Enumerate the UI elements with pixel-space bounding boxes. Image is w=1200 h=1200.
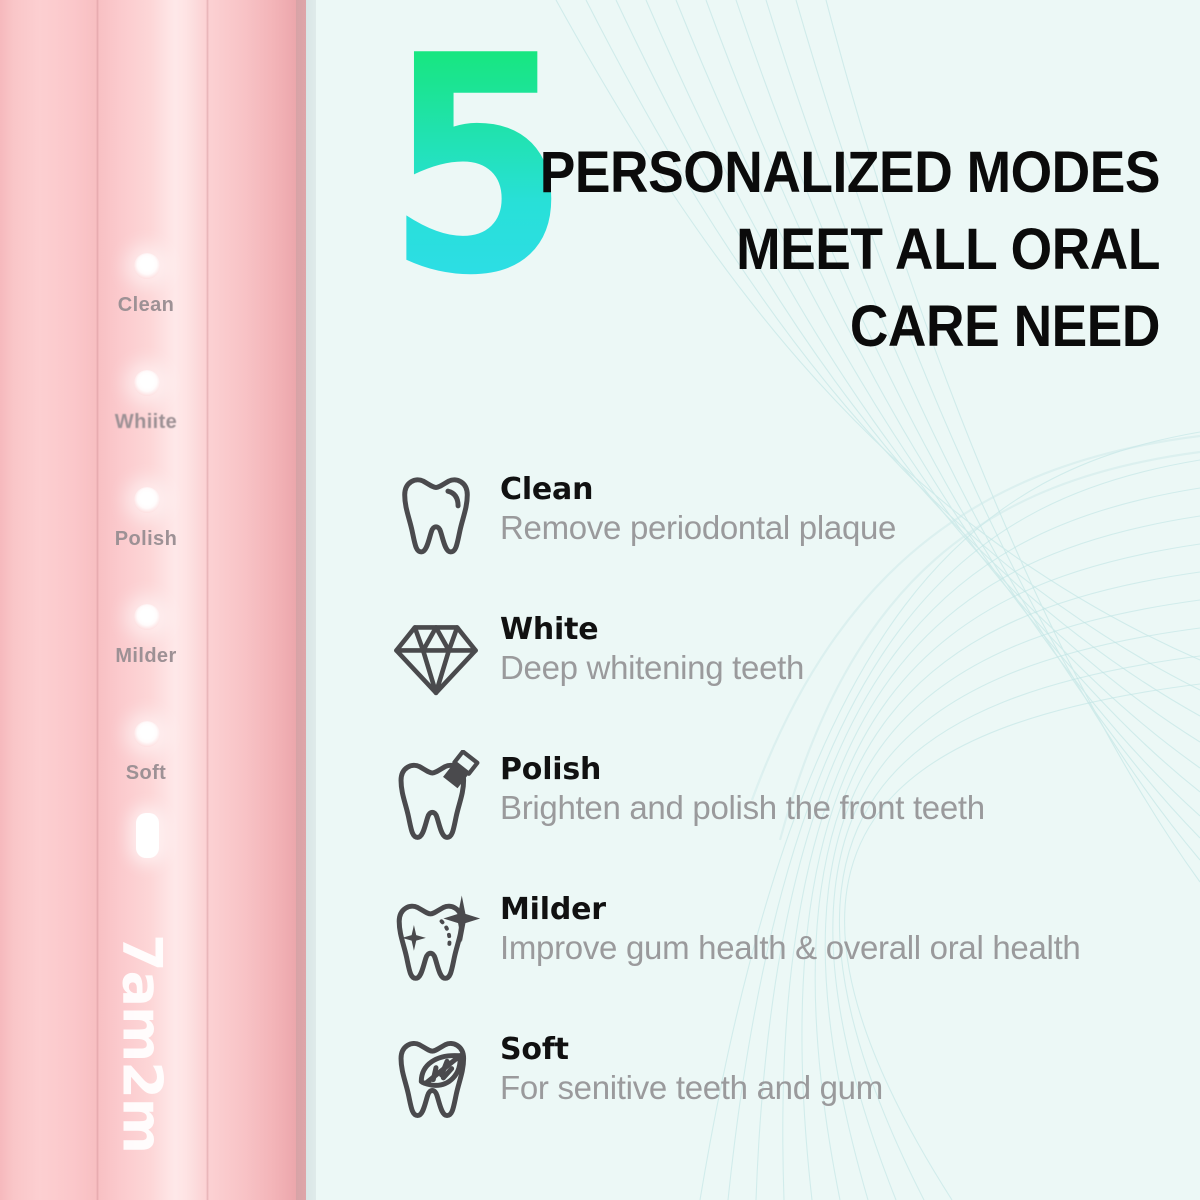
feature-desc-white: Deep whitening teeth: [500, 648, 804, 688]
feature-item-soft: Soft For senitive teeth and gum: [316, 1030, 1200, 1170]
feature-item-clean: Clean Remove periodontal plaque: [316, 470, 1200, 610]
page-title: PERSONALIZED MODES MEET ALL ORAL CARE NE…: [420, 134, 1160, 365]
feature-item-polish: Polish Brighten and polish the front tee…: [316, 750, 1200, 890]
panel-background-fade: [306, 0, 316, 1200]
feature-desc-clean: Remove periodontal plaque: [500, 508, 896, 548]
mode-led-white: [134, 370, 160, 396]
mode-label-clean: Clean: [56, 294, 236, 317]
feature-list: Clean Remove periodontal plaque Whi: [316, 470, 1200, 1170]
mode-label-white: Whiite: [56, 411, 236, 434]
headline-line-2: MEET ALL ORAL: [420, 211, 1160, 288]
feature-text-milder: Milder Improve gum health & overall oral…: [500, 892, 1081, 968]
mode-led-milder: [134, 604, 160, 630]
mode-label-milder: Milder: [56, 645, 236, 668]
headline-line-3: CARE NEED: [420, 288, 1160, 365]
feature-title-polish: Polish: [500, 752, 985, 788]
power-button-indicator: [136, 813, 159, 858]
tooth-polish-icon: [390, 750, 482, 842]
headline-line-1: PERSONALIZED MODES: [420, 134, 1160, 211]
mode-led-clean: [134, 253, 160, 279]
feature-title-clean: Clean: [500, 472, 896, 508]
handle-groove-left: [96, 0, 99, 1200]
mode-label-polish: Polish: [56, 528, 236, 551]
brand-logo: 7am2m: [111, 934, 174, 1154]
tooth-sparkle-icon: [390, 890, 482, 982]
tooth-leaf-icon: [390, 1030, 482, 1122]
diamond-icon: [390, 610, 482, 702]
feature-text-soft: Soft For senitive teeth and gum: [500, 1032, 883, 1108]
feature-text-white: White Deep whitening teeth: [500, 612, 804, 688]
feature-text-clean: Clean Remove periodontal plaque: [500, 472, 896, 548]
feature-desc-milder: Improve gum health & overall oral health: [500, 928, 1081, 968]
feature-text-polish: Polish Brighten and polish the front tee…: [500, 752, 985, 828]
mode-led-polish: [134, 487, 160, 513]
tooth-clean-icon: [390, 470, 482, 562]
feature-item-milder: Milder Improve gum health & overall oral…: [316, 890, 1200, 1030]
product-infographic: Clean Whiite Polish Milder Soft 7am2m 5 …: [0, 0, 1200, 1200]
content-panel: 5 PERSONALIZED MODES MEET ALL ORAL CARE …: [316, 0, 1200, 1200]
feature-desc-polish: Brighten and polish the front teeth: [500, 788, 985, 828]
mode-led-soft: [134, 721, 160, 747]
feature-item-white: White Deep whitening teeth: [316, 610, 1200, 750]
feature-title-soft: Soft: [500, 1032, 883, 1068]
feature-title-white: White: [500, 612, 804, 648]
feature-desc-soft: For senitive teeth and gum: [500, 1068, 883, 1108]
handle-groove-right: [206, 0, 209, 1200]
product-image-panel: Clean Whiite Polish Milder Soft 7am2m: [0, 0, 316, 1200]
mode-label-soft: Soft: [56, 762, 236, 785]
feature-title-milder: Milder: [500, 892, 1081, 928]
